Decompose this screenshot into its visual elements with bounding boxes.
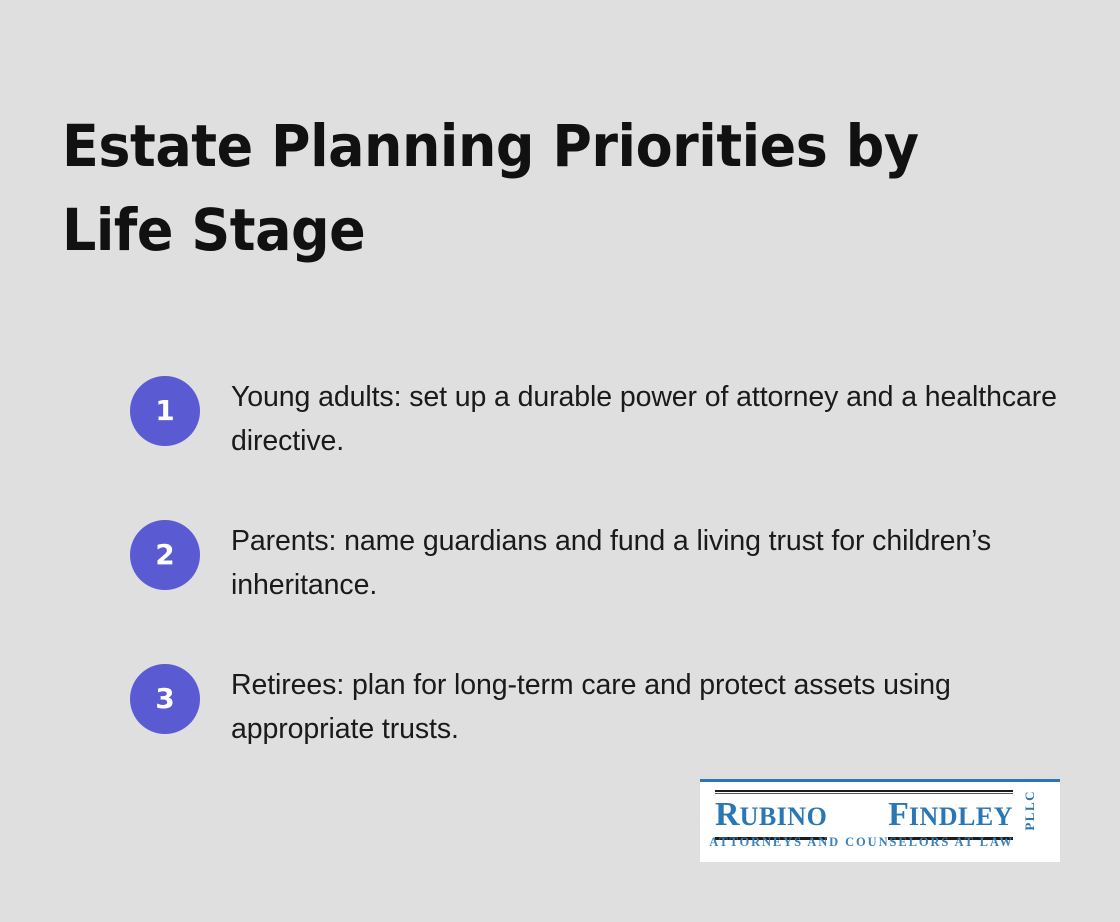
list-number-badge-2: 2 [130, 520, 200, 590]
logo-word-rubino-cap: R [715, 796, 740, 833]
logo-entity-suffix: PLLC [1022, 790, 1038, 845]
list-item-text-1: Young adults: set up a durable power of … [231, 374, 1060, 463]
list-item-text-3: Retirees: plan for long-term care and pr… [231, 662, 1060, 751]
list-item: 3 Retirees: plan for long-term care and … [130, 662, 1060, 751]
list-item: 2 Parents: name guardians and fund a liv… [130, 518, 1060, 607]
list-number-badge-3: 3 [130, 664, 200, 734]
logo-inner: RUBINO FINDLEY PLLC ATTORNEYS AND COUNSE… [700, 782, 1060, 862]
firm-logo: RUBINO FINDLEY PLLC ATTORNEYS AND COUNSE… [700, 779, 1060, 862]
page-title: Estate Planning Priorities by Life Stage [62, 104, 955, 272]
slide-canvas: Estate Planning Priorities by Life Stage… [0, 0, 1120, 922]
logo-word-rubino-rest: UBINO [740, 802, 828, 831]
priorities-list: 1 Young adults: set up a durable power o… [130, 374, 1060, 752]
logo-word-findley-rest: INDLEY [909, 802, 1013, 831]
logo-tagline: ATTORNEYS AND COUNSELORS AT LAW [700, 835, 1023, 850]
list-item: 1 Young adults: set up a durable power o… [130, 374, 1060, 463]
list-number-badge-1: 1 [130, 376, 200, 446]
logo-word-findley-cap: F [888, 796, 909, 833]
list-item-text-2: Parents: name guardians and fund a livin… [231, 518, 1060, 607]
logo-top-rule [715, 790, 1013, 794]
logo-word-findley: FINDLEY [888, 796, 1013, 840]
logo-word-rubino: RUBINO [715, 796, 827, 840]
logo-wordmark: RUBINO FINDLEY [715, 796, 1013, 840]
